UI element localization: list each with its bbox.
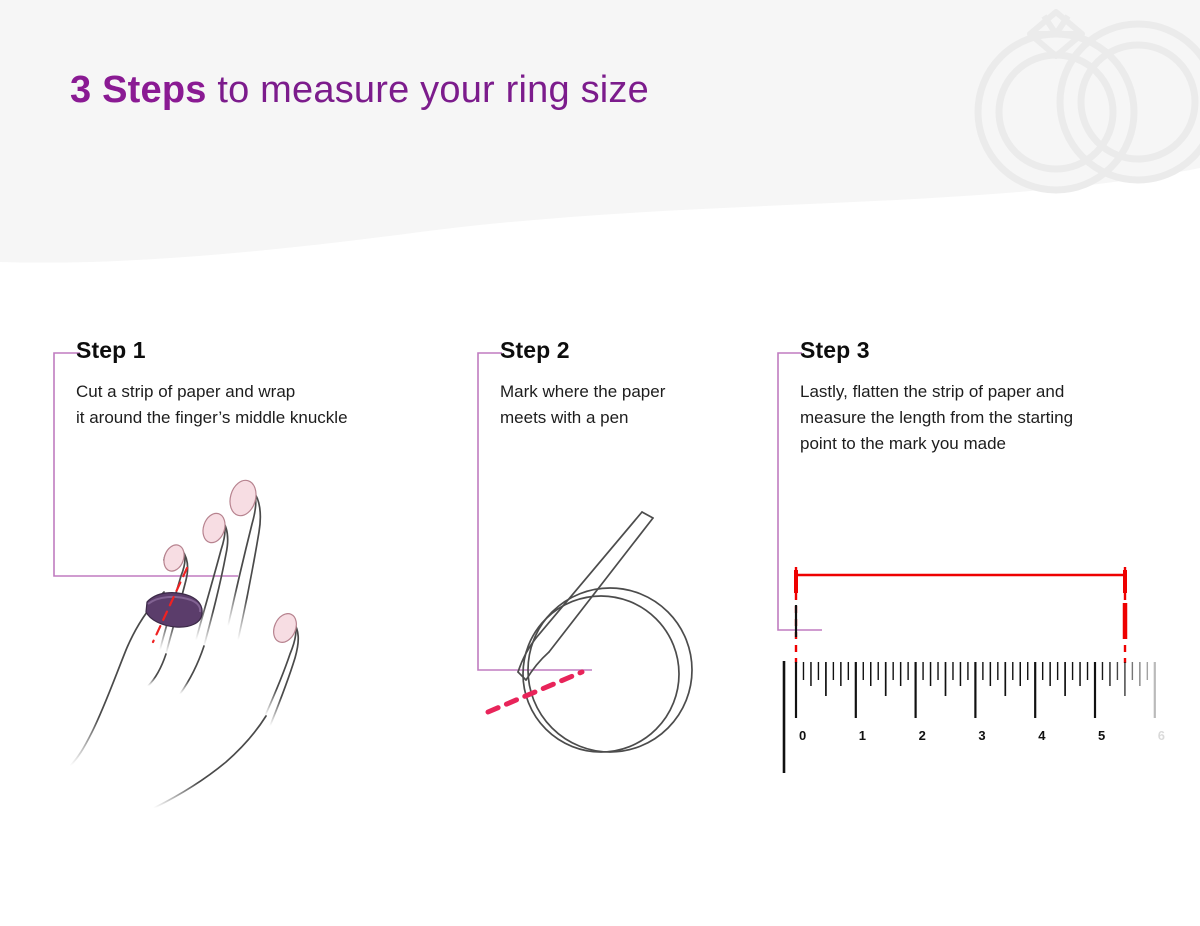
ruler-label-6: 6 bbox=[1158, 728, 1165, 743]
ruler-body bbox=[784, 661, 1170, 773]
ruler-label-group: 0123456 bbox=[799, 728, 1165, 743]
measurement-span-bar bbox=[796, 570, 1125, 593]
ruler-illustration: 0123456 bbox=[780, 545, 1180, 785]
step-heading-2: Step 2 bbox=[500, 338, 665, 363]
ruler-label-2: 2 bbox=[919, 728, 926, 743]
ruler-label-4: 4 bbox=[1038, 728, 1046, 743]
step-heading-3: Step 3 bbox=[800, 338, 1073, 363]
pen-mark-dashed-line bbox=[488, 672, 582, 712]
hand-illustration bbox=[70, 440, 400, 820]
step-description-2: Mark where the paper meets with a pen bbox=[500, 379, 665, 431]
step-text-3: Step 3 Lastly, flatten the strip of pape… bbox=[800, 338, 1073, 457]
step-text-2: Step 2 Mark where the paper meets with a… bbox=[500, 338, 665, 431]
header-curved-background bbox=[0, 0, 1200, 270]
step-text-1: Step 1 Cut a strip of paper and wrap it … bbox=[76, 338, 348, 431]
header-band: 3 Steps to measure your ring size bbox=[0, 0, 1200, 270]
step-description-3: Lastly, flatten the strip of paper and m… bbox=[800, 379, 1073, 457]
page-title-strong: 3 Steps bbox=[70, 69, 207, 111]
coiled-paper-strip-illustration bbox=[470, 480, 740, 780]
ruler-label-3: 3 bbox=[978, 728, 985, 743]
ruler-tick-group bbox=[796, 662, 1155, 718]
step-description-1: Cut a strip of paper and wrap it around … bbox=[76, 379, 348, 431]
ruler-label-1: 1 bbox=[859, 728, 866, 743]
ruler-label-0: 0 bbox=[799, 728, 806, 743]
page-title: 3 Steps to measure your ring size bbox=[70, 68, 649, 114]
step-heading-1: Step 1 bbox=[76, 338, 348, 363]
ruler-label-5: 5 bbox=[1098, 728, 1105, 743]
flattened-paper-strip bbox=[796, 605, 1160, 637]
page-title-rest: to measure your ring size bbox=[207, 69, 649, 111]
